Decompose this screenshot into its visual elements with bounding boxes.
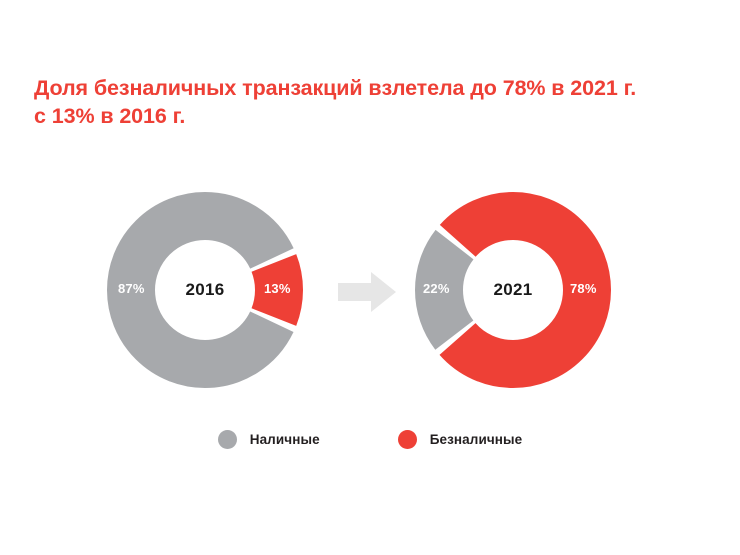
charts-area: 2016 87% 13% 2021 22% 78% — [0, 0, 740, 555]
legend-label-cashless: Безналичные — [430, 432, 523, 447]
legend-dot-cash-icon — [218, 430, 237, 449]
transition-arrow — [338, 272, 396, 312]
right-arrow-icon — [338, 272, 396, 312]
legend-dot-cashless-icon — [398, 430, 417, 449]
donut-chart-2021: 2021 22% 78% — [408, 185, 618, 395]
legend-item-cashless: Безналичные — [398, 430, 523, 449]
donut-2021-svg — [408, 185, 618, 395]
legend-item-cash: Наличные — [218, 430, 320, 449]
donut-chart-2016: 2016 87% 13% — [100, 185, 310, 395]
chart-legend: Наличные Безналичные — [0, 430, 740, 449]
legend-label-cash: Наличные — [250, 432, 320, 447]
donut-2016-svg — [100, 185, 310, 395]
